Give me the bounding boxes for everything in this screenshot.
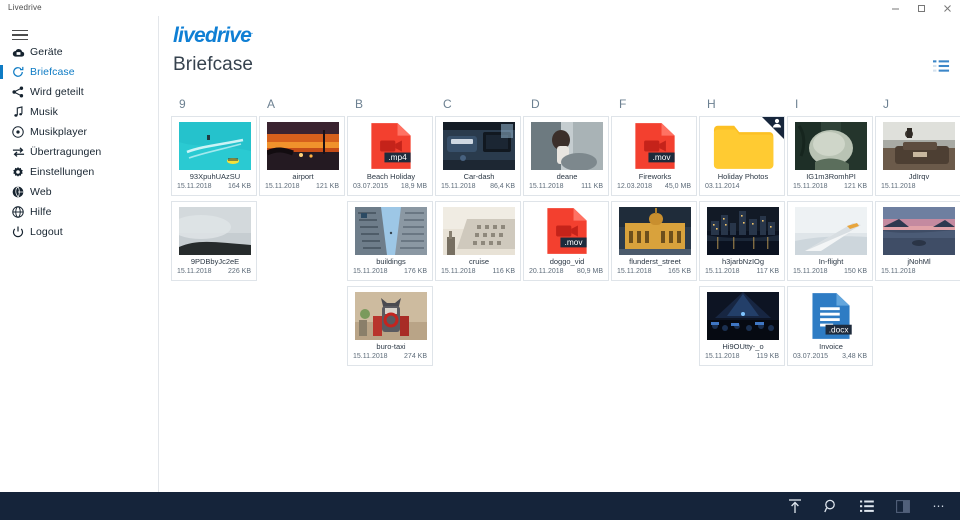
file-name: jNohMl	[876, 257, 960, 266]
brand-tm: .	[251, 29, 252, 36]
file-date: 03.07.2015	[353, 183, 388, 190]
file-size: 274 KB	[404, 353, 427, 360]
file-card[interactable]: airport 15.11.2018 121 KB	[259, 116, 345, 196]
file-date: 20.11.2018	[529, 268, 564, 275]
file-thumbnail	[531, 122, 603, 170]
sidebar-item-label: Wird geteilt	[28, 86, 84, 98]
file-card[interactable]: In-flight 15.11.2018 150 KB	[787, 201, 873, 281]
file-size: 150 KB	[844, 268, 867, 275]
file-column: 993XpuhUAzSU 15.11.2018 164 KB 9PDBbyJc2…	[170, 92, 258, 371]
file-meta: 03.07.2015 18,9 MB	[353, 183, 427, 190]
maximize-button[interactable]	[908, 0, 934, 16]
file-thumbnail: .docx	[795, 292, 867, 340]
cloud-device-icon	[8, 44, 28, 60]
file-card[interactable]: .mp4 Beach Holiday 03.07.2015 18,9 MB	[347, 116, 433, 196]
file-meta: 15.11.2018 86,4 KB	[441, 183, 515, 190]
file-size: 165 KB	[668, 268, 691, 275]
file-size: 226 KB	[228, 268, 251, 275]
share-icon	[8, 84, 28, 100]
gear-icon	[8, 164, 28, 180]
file-column: CCar-dash 15.11.2018 86,4 KB cruise 15.1…	[434, 92, 522, 371]
file-date: 15.11.2018	[793, 183, 828, 190]
sidebar-item-wird-geteilt[interactable]: Wird geteilt	[0, 82, 159, 102]
file-name: In-flight	[788, 257, 873, 266]
file-thumbnail	[883, 122, 955, 170]
file-name: doggo_vid	[524, 257, 609, 266]
sidebar-item-label: Musik	[28, 106, 58, 118]
sidebar-nav: Geräte Briefcase Wird geteilt Musik	[0, 42, 159, 242]
file-grid[interactable]: 993XpuhUAzSU 15.11.2018 164 KB 9PDBbyJc2…	[160, 92, 960, 492]
help-globe-icon	[8, 204, 28, 220]
file-meta: 15.11.2018 121 KB	[265, 183, 339, 190]
sidebar-item-label: Übertragungen	[28, 146, 101, 158]
file-size: 80,9 MB	[577, 268, 603, 275]
file-card[interactable]: IG1m3RomhPI 15.11.2018 121 KB	[787, 116, 873, 196]
column-header: D	[522, 92, 610, 116]
file-card[interactable]: buildings 15.11.2018 176 KB	[347, 201, 433, 281]
file-name: airport	[260, 172, 345, 181]
file-card[interactable]: 9PDBbyJc2eE 15.11.2018 226 KB	[171, 201, 257, 281]
file-size: 3,48 KB	[842, 353, 867, 360]
file-meta: 15.11.2018 226 KB	[177, 268, 251, 275]
svg-text:.mov: .mov	[565, 237, 584, 247]
sidebar-item-label: Hilfe	[28, 206, 52, 218]
file-meta: 15.11.2018 274 KB	[353, 353, 427, 360]
document-file-icon: .docx	[795, 292, 867, 340]
column-header: B	[346, 92, 434, 116]
file-meta: 15.11.2018	[881, 268, 955, 275]
file-card[interactable]: deane 15.11.2018 111 KB	[523, 116, 609, 196]
file-thumbnail	[355, 207, 427, 255]
column-header: H	[698, 92, 786, 116]
video-file-icon: .mp4	[355, 122, 427, 170]
list-select-icon[interactable]	[856, 496, 878, 516]
globe-icon	[8, 184, 28, 200]
file-card[interactable]: Car-dash 15.11.2018 86,4 KB	[435, 116, 521, 196]
file-date: 15.11.2018	[353, 353, 388, 360]
file-column: H Holiday Photos 03.11.2014 h3jarbNzIOg …	[698, 92, 786, 371]
title-bar: Livedrive	[0, 0, 960, 16]
sidebar-item-gerate[interactable]: Geräte	[0, 42, 159, 62]
file-name: buro-taxi	[348, 342, 433, 351]
file-name: h3jarbNzIOg	[700, 257, 785, 266]
file-meta: 20.11.2018 80,9 MB	[529, 268, 603, 275]
file-name: cruise	[436, 257, 521, 266]
column-header: I	[786, 92, 874, 116]
file-card[interactable]: flunderst_street 15.11.2018 165 KB	[611, 201, 697, 281]
column-header: J	[874, 92, 960, 116]
file-size: 117 KB	[757, 268, 779, 275]
sidebar-item-label: Web	[28, 186, 52, 198]
file-meta: 15.11.2018 150 KB	[793, 268, 867, 275]
file-date: 15.11.2018	[441, 183, 476, 190]
file-name: Invoice	[788, 342, 873, 351]
file-name: Fireworks	[612, 172, 697, 181]
column-header: 9	[170, 92, 258, 116]
file-meta: 03.11.2014	[705, 183, 779, 190]
file-meta: 15.11.2018 165 KB	[617, 268, 691, 275]
file-card[interactable]: jNohMl 15.11.2018	[875, 201, 960, 281]
file-column: Aairport 15.11.2018 121 KB	[258, 92, 346, 371]
file-thumbnail: .mov	[619, 122, 691, 170]
transfer-arrows-icon	[8, 144, 28, 160]
sidebar-item-label: Musikplayer	[28, 126, 87, 138]
file-name: JdIrqv	[876, 172, 960, 181]
ellipsis-icon[interactable]: ⋯	[928, 496, 950, 516]
file-date: 15.11.2018	[705, 353, 740, 360]
file-size: 45,0 MB	[665, 183, 691, 190]
file-card[interactable]: Holiday Photos 03.11.2014	[699, 116, 785, 196]
file-date: 03.11.2014	[705, 183, 740, 190]
sync-circle-icon	[8, 64, 28, 80]
file-card[interactable]: .docx Invoice 03.07.2015 3,48 KB	[787, 286, 873, 366]
sidebar-item-web[interactable]: Web	[0, 182, 159, 202]
file-size: 176 KB	[404, 268, 427, 275]
livedrive-window: Livedrive	[0, 0, 960, 520]
file-thumbnail	[619, 207, 691, 255]
search-icon[interactable]	[820, 496, 842, 516]
file-name: Beach Holiday	[348, 172, 433, 181]
file-thumbnail	[267, 122, 339, 170]
sidebar-item-musikplayer[interactable]: Musikplayer	[0, 122, 159, 142]
svg-text:.mp4: .mp4	[388, 152, 407, 162]
file-card[interactable]: cruise 15.11.2018 116 KB	[435, 201, 521, 281]
bottom-toolbar: ⋯	[0, 492, 960, 520]
file-thumbnail	[795, 207, 867, 255]
play-circle-icon	[8, 124, 28, 140]
sidebar-item-ubertragungen[interactable]: Übertragungen	[0, 142, 159, 162]
file-name: Hi9OUtty-_o	[700, 342, 785, 351]
svg-text:.docx: .docx	[829, 324, 850, 334]
file-thumbnail	[355, 292, 427, 340]
file-thumbnail	[883, 207, 955, 255]
file-date: 03.07.2015	[793, 353, 828, 360]
file-name: 93XpuhUAzSU	[172, 172, 257, 181]
file-columns: 993XpuhUAzSU 15.11.2018 164 KB 9PDBbyJc2…	[160, 92, 960, 371]
file-date: 15.11.2018	[881, 183, 916, 190]
sidebar-item-label: Briefcase	[28, 66, 75, 78]
sidebar-item-einstellungen[interactable]: Einstellungen	[0, 162, 159, 182]
close-button[interactable]	[934, 0, 960, 16]
file-date: 15.11.2018	[793, 268, 828, 275]
ellipsis-glyph: ⋯	[933, 501, 946, 511]
sort-list-icon[interactable]	[929, 55, 953, 77]
file-card[interactable]: Hi9OUtty-_o 15.11.2018 119 KB	[699, 286, 785, 366]
file-name: flunderst_street	[612, 257, 697, 266]
column-header: C	[434, 92, 522, 116]
file-size: 119 KB	[757, 353, 779, 360]
file-column: F .mov Fireworks 12.03.2018 45,0 MB flun…	[610, 92, 698, 371]
file-thumbnail	[707, 292, 779, 340]
file-card[interactable]: buro-taxi 15.11.2018 274 KB	[347, 286, 433, 366]
sidebar-item-briefcase[interactable]: Briefcase	[0, 62, 159, 82]
file-thumbnail	[443, 122, 515, 170]
sidebar-item-hilfe[interactable]: Hilfe	[0, 202, 159, 222]
file-size: 164 KB	[228, 183, 251, 190]
sidebar-item-logout[interactable]: Logout	[0, 222, 159, 242]
file-meta: 15.11.2018 164 KB	[177, 183, 251, 190]
file-size: 116 KB	[493, 268, 515, 275]
video-file-icon: .mov	[531, 207, 603, 255]
file-date: 15.11.2018	[265, 183, 300, 190]
file-date: 15.11.2018	[441, 268, 476, 275]
file-meta: 15.11.2018 111 KB	[529, 183, 603, 190]
file-name: Car-dash	[436, 172, 521, 181]
file-meta: 12.03.2018 45,0 MB	[617, 183, 691, 190]
file-size: 18,9 MB	[401, 183, 427, 190]
file-date: 15.11.2018	[705, 268, 740, 275]
file-size: 86,4 KB	[490, 183, 515, 190]
window-controls	[882, 0, 960, 16]
file-thumbnail: .mov	[531, 207, 603, 255]
file-date: 15.11.2018	[177, 268, 212, 275]
sidebar-item-label: Einstellungen	[28, 166, 94, 178]
file-column: JJdIrqv 15.11.2018 jNohMl 15.11.2018	[874, 92, 960, 371]
file-meta: 03.07.2015 3,48 KB	[793, 353, 867, 360]
file-meta: 15.11.2018	[881, 183, 955, 190]
file-thumbnail	[795, 122, 867, 170]
column-header: F	[610, 92, 698, 116]
file-size: 111 KB	[581, 183, 603, 190]
file-meta: 15.11.2018 116 KB	[441, 268, 515, 275]
file-date: 15.11.2018	[529, 183, 564, 190]
sidebar-item-label: Geräte	[28, 46, 63, 58]
person-icon	[772, 118, 782, 128]
sidebar-item-musik[interactable]: Musik	[0, 102, 159, 122]
file-meta: 15.11.2018 176 KB	[353, 268, 427, 275]
power-icon	[8, 224, 28, 240]
file-name: IG1m3RomhPI	[788, 172, 873, 181]
file-name: deane	[524, 172, 609, 181]
file-date: 15.11.2018	[617, 268, 652, 275]
sidebar: Geräte Briefcase Wird geteilt Musik	[0, 16, 159, 492]
livedrive-logo: livedrive.	[173, 24, 252, 48]
file-name: buildings	[348, 257, 433, 266]
upload-arrow-icon[interactable]	[784, 496, 806, 516]
file-column: B .mp4 Beach Holiday 03.07.2015 18,9 MB …	[346, 92, 434, 371]
file-date: 15.11.2018	[881, 268, 916, 275]
minimize-button[interactable]	[882, 0, 908, 16]
file-column: Ddeane 15.11.2018 111 KB .mov doggo_vid …	[522, 92, 610, 371]
panel-view-icon[interactable]	[892, 496, 914, 516]
file-thumbnail	[179, 122, 251, 170]
file-thumbnail	[443, 207, 515, 255]
music-note-icon	[8, 104, 28, 120]
file-size: 121 KB	[316, 183, 339, 190]
file-date: 15.11.2018	[177, 183, 212, 190]
video-file-icon: .mov	[619, 122, 691, 170]
file-size: 121 KB	[844, 183, 867, 190]
svg-text:.mov: .mov	[653, 152, 672, 162]
brand-text: livedrive	[173, 24, 251, 47]
file-date: 15.11.2018	[353, 268, 388, 275]
file-card[interactable]: .mov doggo_vid 20.11.2018 80,9 MB	[523, 201, 609, 281]
file-thumbnail: .mp4	[355, 122, 427, 170]
file-card[interactable]: h3jarbNzIOg 15.11.2018 117 KB	[699, 201, 785, 281]
window-title: Livedrive	[8, 3, 42, 12]
file-column: IIG1m3RomhPI 15.11.2018 121 KB In-flight…	[786, 92, 874, 371]
page-title: Briefcase	[173, 54, 253, 76]
column-header: A	[258, 92, 346, 116]
file-card[interactable]: 93XpuhUAzSU 15.11.2018 164 KB	[171, 116, 257, 196]
file-date: 12.03.2018	[617, 183, 652, 190]
file-thumbnail	[179, 207, 251, 255]
file-thumbnail	[707, 207, 779, 255]
file-meta: 15.11.2018 119 KB	[705, 353, 779, 360]
file-meta: 15.11.2018 117 KB	[705, 268, 779, 275]
page-header: Briefcase	[160, 54, 960, 90]
file-card[interactable]: .mov Fireworks 12.03.2018 45,0 MB	[611, 116, 697, 196]
file-card[interactable]: JdIrqv 15.11.2018	[875, 116, 960, 196]
file-name: Holiday Photos	[700, 172, 785, 181]
file-name: 9PDBbyJc2eE	[172, 257, 257, 266]
main-content: livedrive. Briefcase 993XpuhUAzSU 15.11.…	[160, 16, 960, 492]
file-meta: 15.11.2018 121 KB	[793, 183, 867, 190]
sidebar-item-label: Logout	[28, 226, 63, 238]
